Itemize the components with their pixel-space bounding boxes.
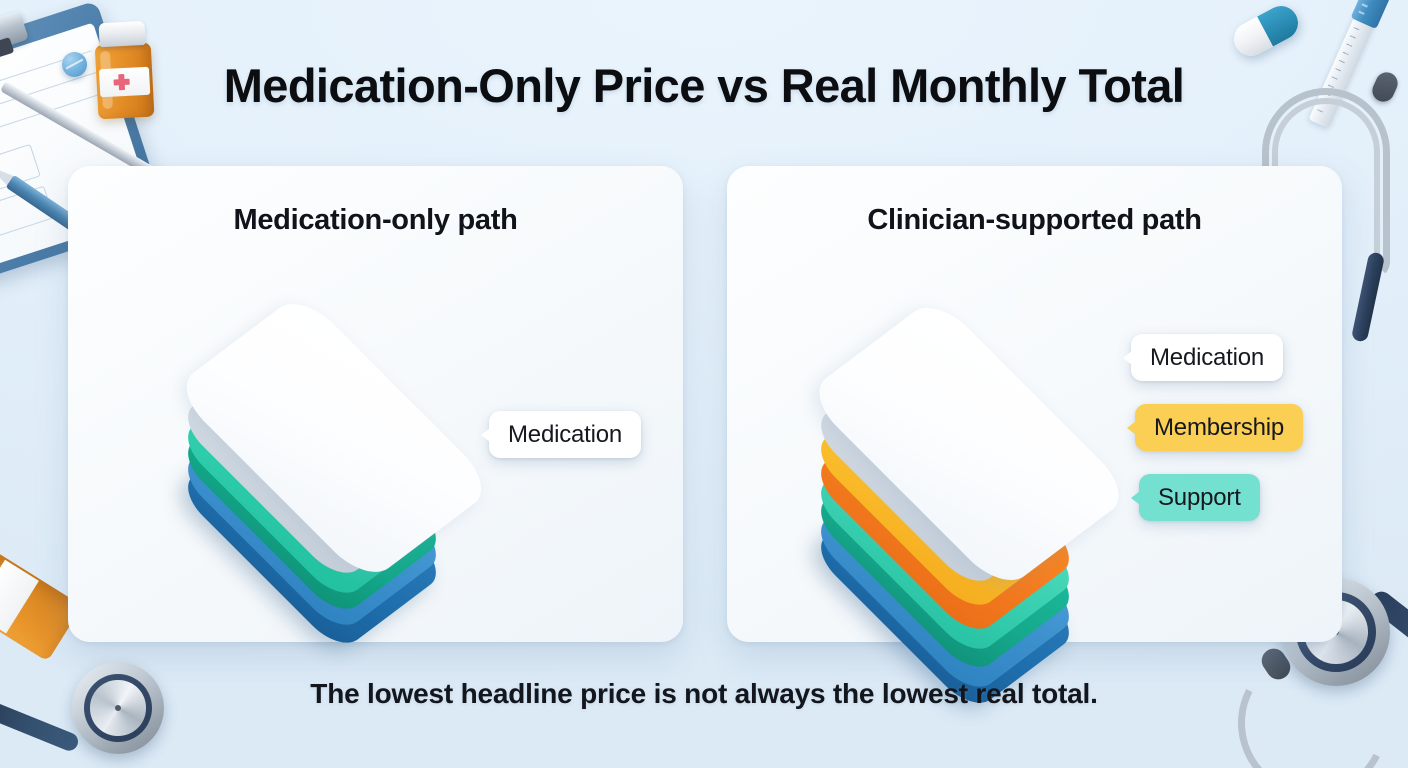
card-title: Clinician-supported path [727, 204, 1342, 237]
stethoscope-tube-icon [1366, 587, 1408, 691]
card-clinician-supported: Clinician-supported path [727, 166, 1342, 642]
comparison-cards: Medication-only path M [68, 166, 1342, 642]
chip-label: Support [1158, 484, 1241, 512]
page-title: Medication-Only Price vs Real Monthly To… [0, 58, 1408, 113]
chip-membership: Membership [1135, 404, 1303, 451]
chip-label: Medication [1150, 344, 1264, 372]
card-medication-only: Medication-only path M [68, 166, 683, 642]
footer-caption: The lowest headline price is not always … [0, 678, 1408, 710]
chip-support: Support [1139, 474, 1260, 521]
card-title: Medication-only path [68, 204, 683, 237]
infographic-canvas: Medication-Only Price vs Real Monthly To… [0, 0, 1408, 768]
chip-label: Membership [1154, 414, 1284, 442]
chip-label: Medication [508, 421, 622, 449]
capsule-pill-icon [1228, 0, 1304, 62]
chip-medication: Medication [489, 411, 641, 458]
chip-medication: Medication [1131, 334, 1283, 381]
